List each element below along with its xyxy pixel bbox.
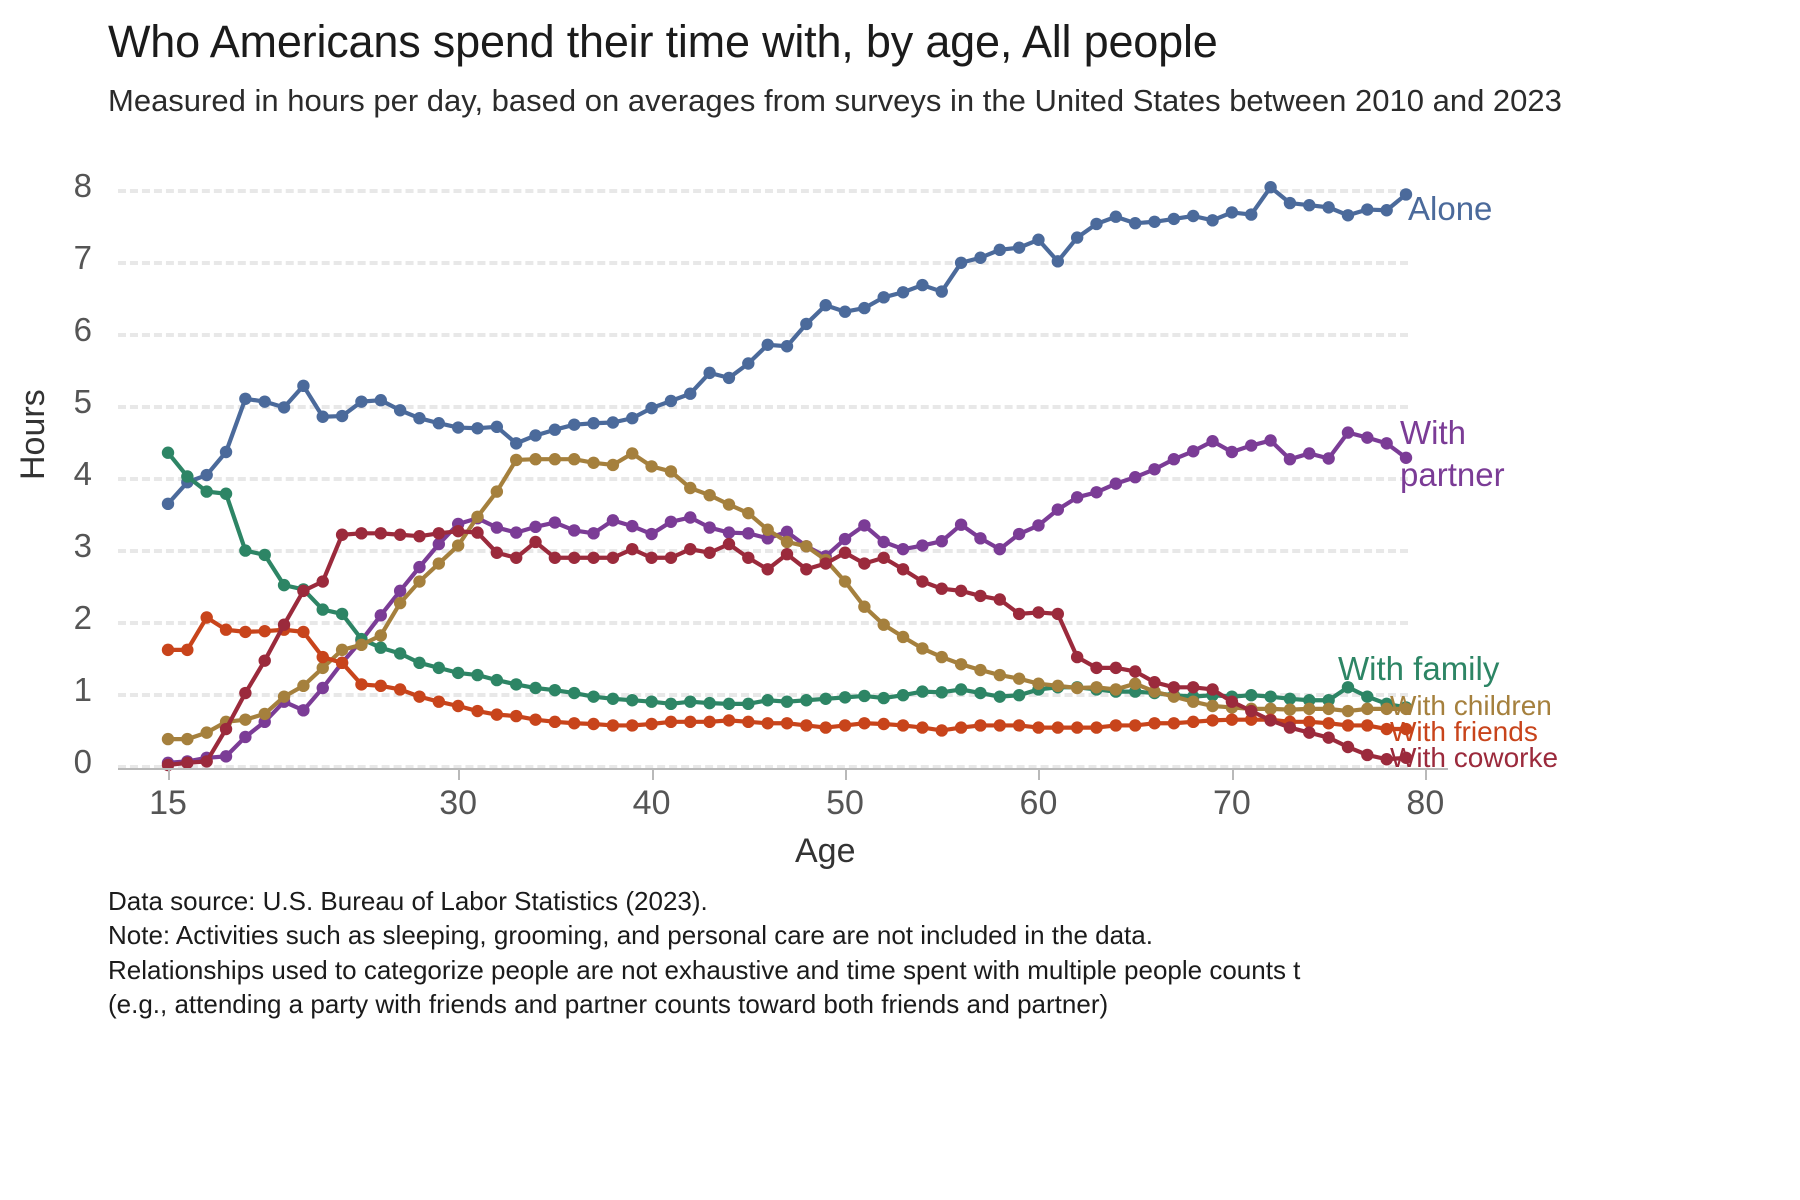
page-title: Who Americans spend their time with, by … [108, 16, 1218, 68]
data-point [839, 547, 851, 559]
data-point [1013, 241, 1025, 253]
data-point [1129, 719, 1141, 731]
data-point [355, 678, 367, 690]
data-point [1110, 683, 1122, 695]
y-tick-label: 6 [32, 311, 92, 349]
data-point [568, 717, 580, 729]
data-point [703, 521, 715, 533]
data-point [1071, 721, 1083, 733]
data-point [1090, 721, 1102, 733]
data-point [839, 575, 851, 587]
data-point [239, 731, 251, 743]
data-point [452, 700, 464, 712]
data-point [665, 516, 677, 528]
data-point [645, 528, 657, 540]
series-with-friends [162, 611, 1412, 736]
data-point [549, 453, 561, 465]
data-point [878, 692, 890, 704]
data-point [607, 514, 619, 526]
data-point [858, 690, 870, 702]
data-point [568, 687, 580, 699]
data-point [1342, 705, 1354, 717]
data-point [936, 686, 948, 698]
x-tick [652, 768, 654, 780]
data-point [974, 664, 986, 676]
data-point [1129, 217, 1141, 229]
data-point [220, 446, 232, 458]
data-point [897, 719, 909, 731]
data-point [819, 693, 831, 705]
data-point [1342, 426, 1354, 438]
data-point [607, 719, 619, 731]
data-point [684, 716, 696, 728]
data-point [1322, 452, 1334, 464]
data-point [1380, 204, 1392, 216]
data-point [684, 511, 696, 523]
data-point [1226, 446, 1238, 458]
data-point [491, 485, 503, 497]
data-point [974, 532, 986, 544]
x-tick [845, 768, 847, 780]
data-point [1245, 208, 1257, 220]
data-point [1148, 717, 1160, 729]
data-point [491, 708, 503, 720]
data-point [1032, 678, 1044, 690]
data-point [800, 719, 812, 731]
data-point [858, 601, 870, 613]
data-point [239, 713, 251, 725]
data-point [897, 543, 909, 555]
data-point [1013, 689, 1025, 701]
data-point [200, 611, 212, 623]
data-point [1052, 721, 1064, 733]
data-point [181, 733, 193, 745]
data-point [1168, 213, 1180, 225]
data-point [1110, 211, 1122, 223]
data-point [510, 678, 522, 690]
data-point [413, 575, 425, 587]
x-tick-label: 50 [826, 784, 864, 823]
data-point [1264, 703, 1276, 715]
data-point [684, 543, 696, 555]
data-point [936, 285, 948, 297]
data-point [1187, 695, 1199, 707]
data-point [1303, 447, 1315, 459]
data-point [858, 557, 870, 569]
series-label-family: With family [1338, 650, 1499, 688]
data-point [1264, 181, 1276, 193]
data-point [1071, 651, 1083, 663]
data-point [626, 543, 638, 555]
footer-line-1: Data source: U.S. Bureau of Labor Statis… [108, 884, 1800, 918]
data-point [394, 597, 406, 609]
data-point [336, 529, 348, 541]
data-point [858, 717, 870, 729]
data-point [1032, 519, 1044, 531]
data-point [297, 680, 309, 692]
data-point [1090, 218, 1102, 230]
data-point [703, 697, 715, 709]
data-point [626, 520, 638, 532]
data-point [433, 557, 445, 569]
data-point [1284, 453, 1296, 465]
data-point [916, 685, 928, 697]
data-point [297, 704, 309, 716]
data-point [317, 662, 329, 674]
data-point [336, 608, 348, 620]
data-point [1168, 717, 1180, 729]
data-point [413, 561, 425, 573]
series-label-alone: Alone [1408, 190, 1492, 228]
series-line [168, 453, 1406, 708]
data-point [645, 552, 657, 564]
data-point [1245, 439, 1257, 451]
data-point [626, 447, 638, 459]
data-point [491, 421, 503, 433]
data-point [375, 680, 387, 692]
data-point [1361, 703, 1373, 715]
x-tick-label: 80 [1406, 784, 1444, 823]
data-point [1303, 716, 1315, 728]
data-point [897, 286, 909, 298]
data-point [1245, 689, 1257, 701]
data-point [220, 750, 232, 762]
data-point [1071, 491, 1083, 503]
data-point [375, 609, 387, 621]
data-point [529, 521, 541, 533]
data-point [878, 619, 890, 631]
data-point [916, 642, 928, 654]
data-point [336, 410, 348, 422]
series-line [168, 433, 1406, 763]
data-point [200, 469, 212, 481]
data-point [1052, 608, 1064, 620]
data-point [781, 340, 793, 352]
series-label-partner-line2: partner [1400, 456, 1505, 494]
data-point [355, 639, 367, 651]
data-point [1052, 255, 1064, 267]
data-point [1264, 434, 1276, 446]
data-point [1303, 726, 1315, 738]
y-tick-label: 2 [32, 599, 92, 637]
data-point [1071, 682, 1083, 694]
data-point [549, 424, 561, 436]
data-point [955, 257, 967, 269]
x-tick [458, 768, 460, 780]
data-point [278, 401, 290, 413]
data-point [703, 716, 715, 728]
data-point [742, 507, 754, 519]
data-point [471, 669, 483, 681]
data-point [665, 552, 677, 564]
data-point [1052, 503, 1064, 515]
data-point [1110, 477, 1122, 489]
data-point [394, 404, 406, 416]
data-point [936, 583, 948, 595]
data-point [800, 540, 812, 552]
data-point [471, 705, 483, 717]
data-point [568, 552, 580, 564]
data-point [413, 530, 425, 542]
data-point [587, 417, 599, 429]
data-point [1361, 749, 1373, 761]
data-point [645, 695, 657, 707]
data-point [1303, 199, 1315, 211]
data-point [510, 437, 522, 449]
data-point [723, 526, 735, 538]
data-point [568, 453, 580, 465]
data-point [433, 695, 445, 707]
data-point [761, 524, 773, 536]
data-point [781, 695, 793, 707]
data-point [433, 417, 445, 429]
data-point [1168, 453, 1180, 465]
data-point [665, 395, 677, 407]
page-subtitle: Measured in hours per day, based on aver… [108, 82, 1800, 121]
data-point [1342, 741, 1354, 753]
data-point [626, 694, 638, 706]
data-point [471, 526, 483, 538]
data-point [568, 418, 580, 430]
data-point [297, 380, 309, 392]
data-point [317, 682, 329, 694]
data-point [278, 579, 290, 591]
data-point [394, 647, 406, 659]
data-point [1129, 471, 1141, 483]
data-point [375, 527, 387, 539]
y-tick-label: 8 [32, 167, 92, 205]
data-point [587, 527, 599, 539]
data-point [800, 563, 812, 575]
data-point [1013, 528, 1025, 540]
line-chart-svg [118, 175, 1408, 765]
data-point [742, 698, 754, 710]
data-point [839, 533, 851, 545]
plot-area [118, 175, 1408, 765]
data-point [1206, 435, 1218, 447]
data-point [1380, 437, 1392, 449]
data-point [819, 557, 831, 569]
data-point [1361, 719, 1373, 731]
data-point [626, 412, 638, 424]
data-point [1090, 486, 1102, 498]
series-alone [162, 181, 1412, 510]
data-point [781, 548, 793, 560]
data-point [239, 687, 251, 699]
data-point [587, 552, 599, 564]
data-point [529, 713, 541, 725]
y-tick-label: 1 [32, 671, 92, 709]
data-point [742, 716, 754, 728]
data-point [491, 547, 503, 559]
x-tick [1038, 768, 1040, 780]
data-point [607, 693, 619, 705]
data-point [916, 721, 928, 733]
data-point [800, 694, 812, 706]
data-point [162, 733, 174, 745]
data-point [452, 421, 464, 433]
data-point [878, 552, 890, 564]
data-point [916, 539, 928, 551]
data-point [433, 527, 445, 539]
x-tick-label: 15 [149, 784, 187, 823]
data-point [452, 539, 464, 551]
data-point [645, 402, 657, 414]
data-point [529, 536, 541, 548]
data-point [433, 662, 445, 674]
data-point [162, 644, 174, 656]
data-point [684, 482, 696, 494]
data-point [549, 516, 561, 528]
y-tick-label: 5 [32, 383, 92, 421]
data-point [781, 717, 793, 729]
data-point [878, 718, 890, 730]
x-tick-label: 30 [439, 784, 477, 823]
data-point [259, 625, 271, 637]
data-point [607, 416, 619, 428]
data-point [955, 585, 967, 597]
data-point [529, 453, 541, 465]
data-point [259, 549, 271, 561]
data-point [974, 252, 986, 264]
data-point [761, 694, 773, 706]
data-point [1071, 231, 1083, 243]
data-point [162, 498, 174, 510]
data-point [181, 644, 193, 656]
data-point [878, 536, 890, 548]
data-point [665, 716, 677, 728]
y-tick-label: 4 [32, 455, 92, 493]
data-point [510, 454, 522, 466]
data-point [510, 552, 522, 564]
data-point [1148, 676, 1160, 688]
data-point [1322, 731, 1334, 743]
x-tick-label: 40 [633, 784, 671, 823]
data-point [761, 717, 773, 729]
data-point [761, 339, 773, 351]
data-point [1187, 681, 1199, 693]
data-point [452, 525, 464, 537]
data-point [1226, 206, 1238, 218]
data-point [1264, 690, 1276, 702]
x-tick [168, 768, 170, 780]
data-point [974, 687, 986, 699]
data-point [1284, 693, 1296, 705]
data-point [259, 395, 271, 407]
data-point [781, 536, 793, 548]
data-point [1322, 717, 1334, 729]
data-point [259, 708, 271, 720]
y-tick-label: 3 [32, 527, 92, 565]
data-point [491, 674, 503, 686]
data-point [317, 411, 329, 423]
data-point [974, 719, 986, 731]
data-point [1303, 703, 1315, 715]
data-point [703, 489, 715, 501]
footer-line-2: Note: Activities such as sleeping, groom… [108, 918, 1800, 952]
data-point [336, 657, 348, 669]
data-point [433, 538, 445, 550]
data-point [723, 498, 735, 510]
data-point [317, 603, 329, 615]
data-point [723, 538, 735, 550]
data-point [994, 690, 1006, 702]
data-point [1148, 216, 1160, 228]
data-point [994, 543, 1006, 555]
x-axis-line [118, 768, 1448, 770]
data-point [355, 527, 367, 539]
data-point [394, 683, 406, 695]
data-point [1187, 716, 1199, 728]
data-point [1226, 713, 1238, 725]
data-point [839, 719, 851, 731]
data-point [278, 690, 290, 702]
data-point [317, 651, 329, 663]
data-point [162, 447, 174, 459]
data-point [607, 552, 619, 564]
data-point [1052, 680, 1064, 692]
data-point [1284, 703, 1296, 715]
data-point [974, 590, 986, 602]
series-label-partner-line1: With [1400, 414, 1466, 452]
data-point [1206, 700, 1218, 712]
data-point [665, 465, 677, 477]
data-point [994, 719, 1006, 731]
data-point [471, 511, 483, 523]
data-point [510, 710, 522, 722]
data-point [742, 527, 754, 539]
data-point [239, 626, 251, 638]
data-point [839, 691, 851, 703]
data-point [1129, 678, 1141, 690]
data-point [549, 552, 561, 564]
data-point [819, 299, 831, 311]
data-point [1187, 210, 1199, 222]
data-point [297, 585, 309, 597]
data-point [1090, 681, 1102, 693]
data-point [510, 526, 522, 538]
data-point [1032, 606, 1044, 618]
chart-page: Who Americans spend their time with, by … [0, 0, 1800, 1200]
data-point [239, 544, 251, 556]
data-point [1206, 714, 1218, 726]
data-point [665, 698, 677, 710]
data-point [1342, 719, 1354, 731]
data-point [994, 669, 1006, 681]
data-point [936, 724, 948, 736]
data-point [1284, 721, 1296, 733]
data-point [1342, 209, 1354, 221]
data-point [200, 755, 212, 767]
data-point [1013, 608, 1025, 620]
data-point [897, 563, 909, 575]
data-point [1264, 714, 1276, 726]
data-point [897, 689, 909, 701]
data-point [742, 357, 754, 369]
data-point [181, 470, 193, 482]
data-point [800, 318, 812, 330]
data-point [568, 524, 580, 536]
data-point [200, 726, 212, 738]
data-point [1013, 719, 1025, 731]
data-point [220, 488, 232, 500]
data-point [1110, 662, 1122, 674]
footer-line-4: (e.g., attending a party with friends an… [108, 987, 1800, 1021]
data-point [413, 412, 425, 424]
data-point [375, 629, 387, 641]
data-point [723, 698, 735, 710]
data-point [1361, 203, 1373, 215]
